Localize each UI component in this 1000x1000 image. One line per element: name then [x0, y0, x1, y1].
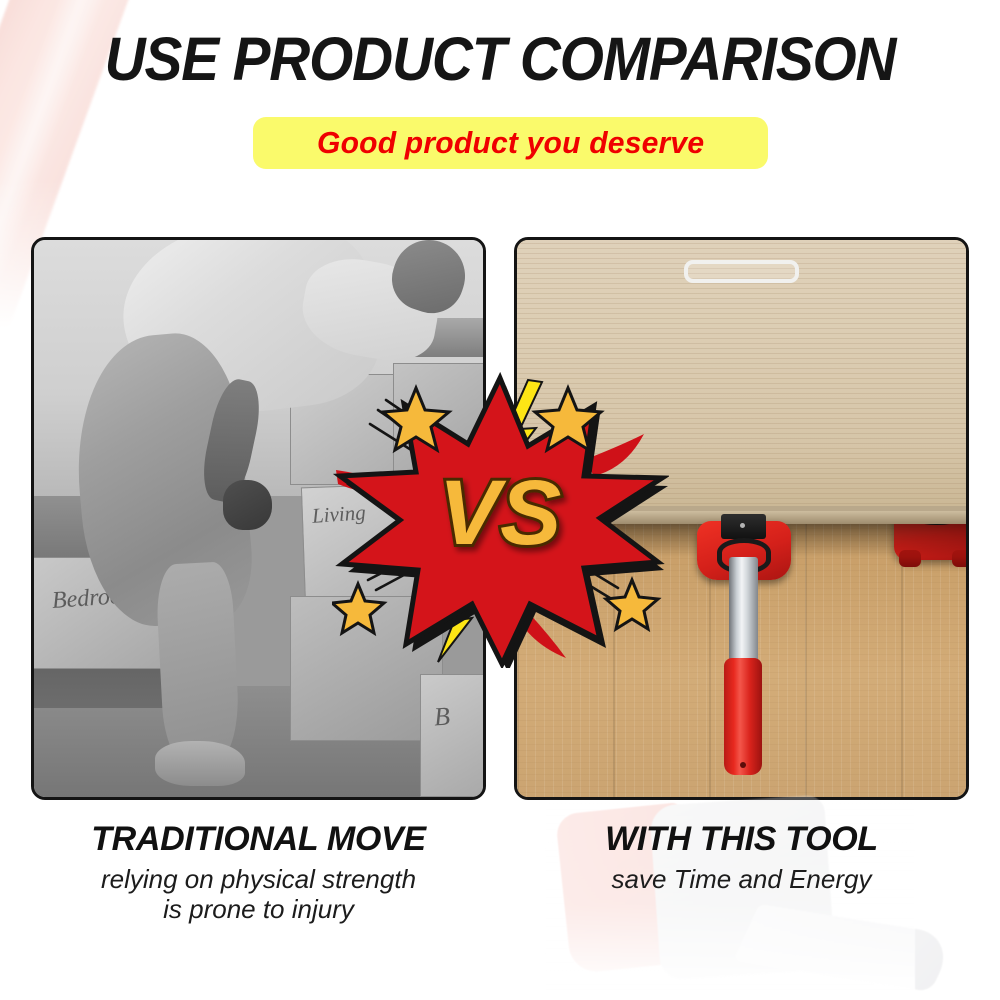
caption-with-this-tool: WITH THIS TOOL save Time and Energy — [514, 820, 969, 894]
lifter-shaft — [729, 557, 758, 674]
lifter-top-plate — [721, 514, 766, 539]
furniture-handle-icon — [684, 260, 798, 283]
caption-traditional-move: TRADITIONAL MOVE relying on physical str… — [31, 820, 486, 924]
tagline-text: Good product you deserve — [317, 125, 704, 161]
person-hand — [223, 480, 272, 530]
caption-subtext-line: save Time and Energy — [514, 864, 969, 894]
product-comparison-infographic: USE PRODUCT COMPARISON Good product you … — [0, 0, 1000, 1000]
caption-subtext: save Time and Energy — [514, 864, 969, 894]
tagline-badge: Good product you deserve — [253, 117, 768, 169]
cardboard-box — [420, 674, 483, 797]
caption-heading: TRADITIONAL MOVE — [31, 820, 486, 859]
caption-subtext-line: is prone to injury — [31, 894, 486, 924]
person-lower-leg — [155, 561, 242, 765]
vs-label: VS — [439, 462, 562, 564]
caption-subtext-line: relying on physical strength — [31, 864, 486, 894]
person-foot — [155, 741, 245, 786]
lifter-grip-handle — [724, 658, 762, 775]
box-label: B — [433, 702, 451, 733]
vs-burst-badge: VS — [332, 372, 669, 668]
caption-heading: WITH THIS TOOL — [514, 820, 969, 859]
page-title: USE PRODUCT COMPARISON — [35, 24, 965, 94]
caption-subtext: relying on physical strength is prone to… — [31, 864, 486, 924]
